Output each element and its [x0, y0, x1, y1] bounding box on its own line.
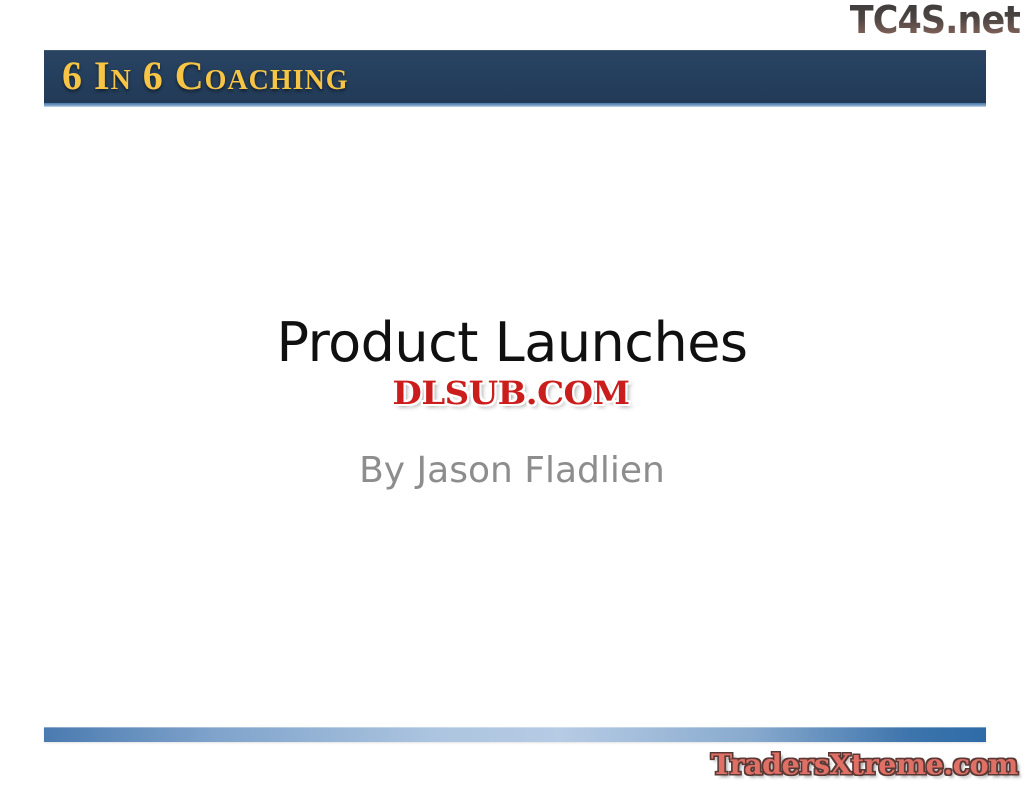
slide-title: Product Launches	[0, 312, 1024, 374]
slide-header-banner-accent	[44, 103, 986, 107]
presentation-slide: TC4S.net 6 In 6 Coaching Product Launche…	[0, 0, 1024, 791]
site-watermark-bottom-right: TradersXtreme.com	[711, 748, 1018, 782]
slide-header-banner: 6 In 6 Coaching	[44, 50, 986, 103]
slide-header-banner-title: 6 In 6 Coaching	[62, 56, 349, 96]
site-watermark-top-right: TC4S.net	[850, 0, 1020, 42]
site-watermark-center: DLSUB.COM	[359, 374, 662, 412]
slide-subtitle: By Jason Fladlien	[0, 447, 1024, 495]
slide-title-block: Product Launches	[0, 312, 1024, 374]
slide-footer-bar	[44, 727, 986, 742]
